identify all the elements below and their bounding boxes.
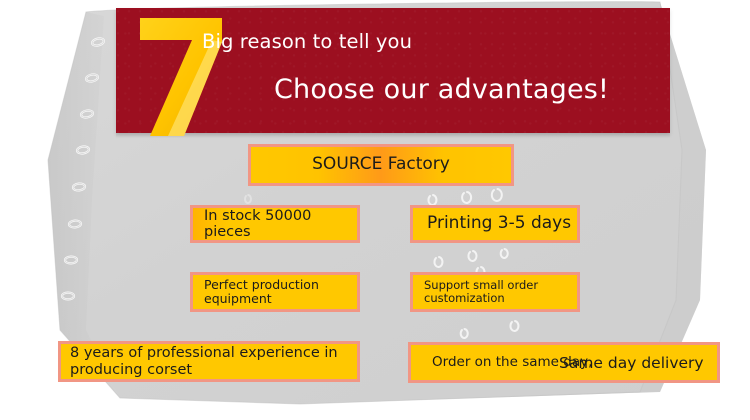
box-production-equipment-label: Perfect production equipment	[204, 278, 357, 306]
box-same-day-order[interactable]: Order on the same day, Same day delivery	[408, 342, 720, 383]
box-in-stock[interactable]: In stock 50000 pieces	[190, 205, 360, 243]
box-production-equipment[interactable]: Perfect production equipment	[190, 272, 360, 312]
box-printing-days-label: Printing 3-5 days	[427, 214, 571, 233]
box-small-order-customization-label: Support small order customization	[424, 279, 577, 305]
header-line-2: Choose our advantages!	[274, 74, 609, 105]
header-banner: Big reason to tell you Choose our advant…	[116, 8, 670, 133]
box-source-factory[interactable]: SOURCE Factory	[248, 144, 514, 186]
box-same-day-delivery-label: Same day delivery	[559, 354, 704, 372]
box-printing-days[interactable]: Printing 3-5 days	[410, 205, 580, 243]
box-small-order-customization[interactable]: Support small order customization	[410, 272, 580, 312]
infographic-canvas: Big reason to tell you Choose our advant…	[0, 0, 750, 420]
header-line-1: Big reason to tell you	[202, 30, 412, 53]
box-source-factory-label: SOURCE Factory	[312, 155, 450, 174]
box-years-experience[interactable]: 8 years of professional experience in pr…	[58, 341, 360, 382]
number-seven	[126, 4, 236, 139]
box-years-experience-label: 8 years of professional experience in pr…	[70, 345, 357, 377]
box-in-stock-label: In stock 50000 pieces	[204, 208, 357, 240]
